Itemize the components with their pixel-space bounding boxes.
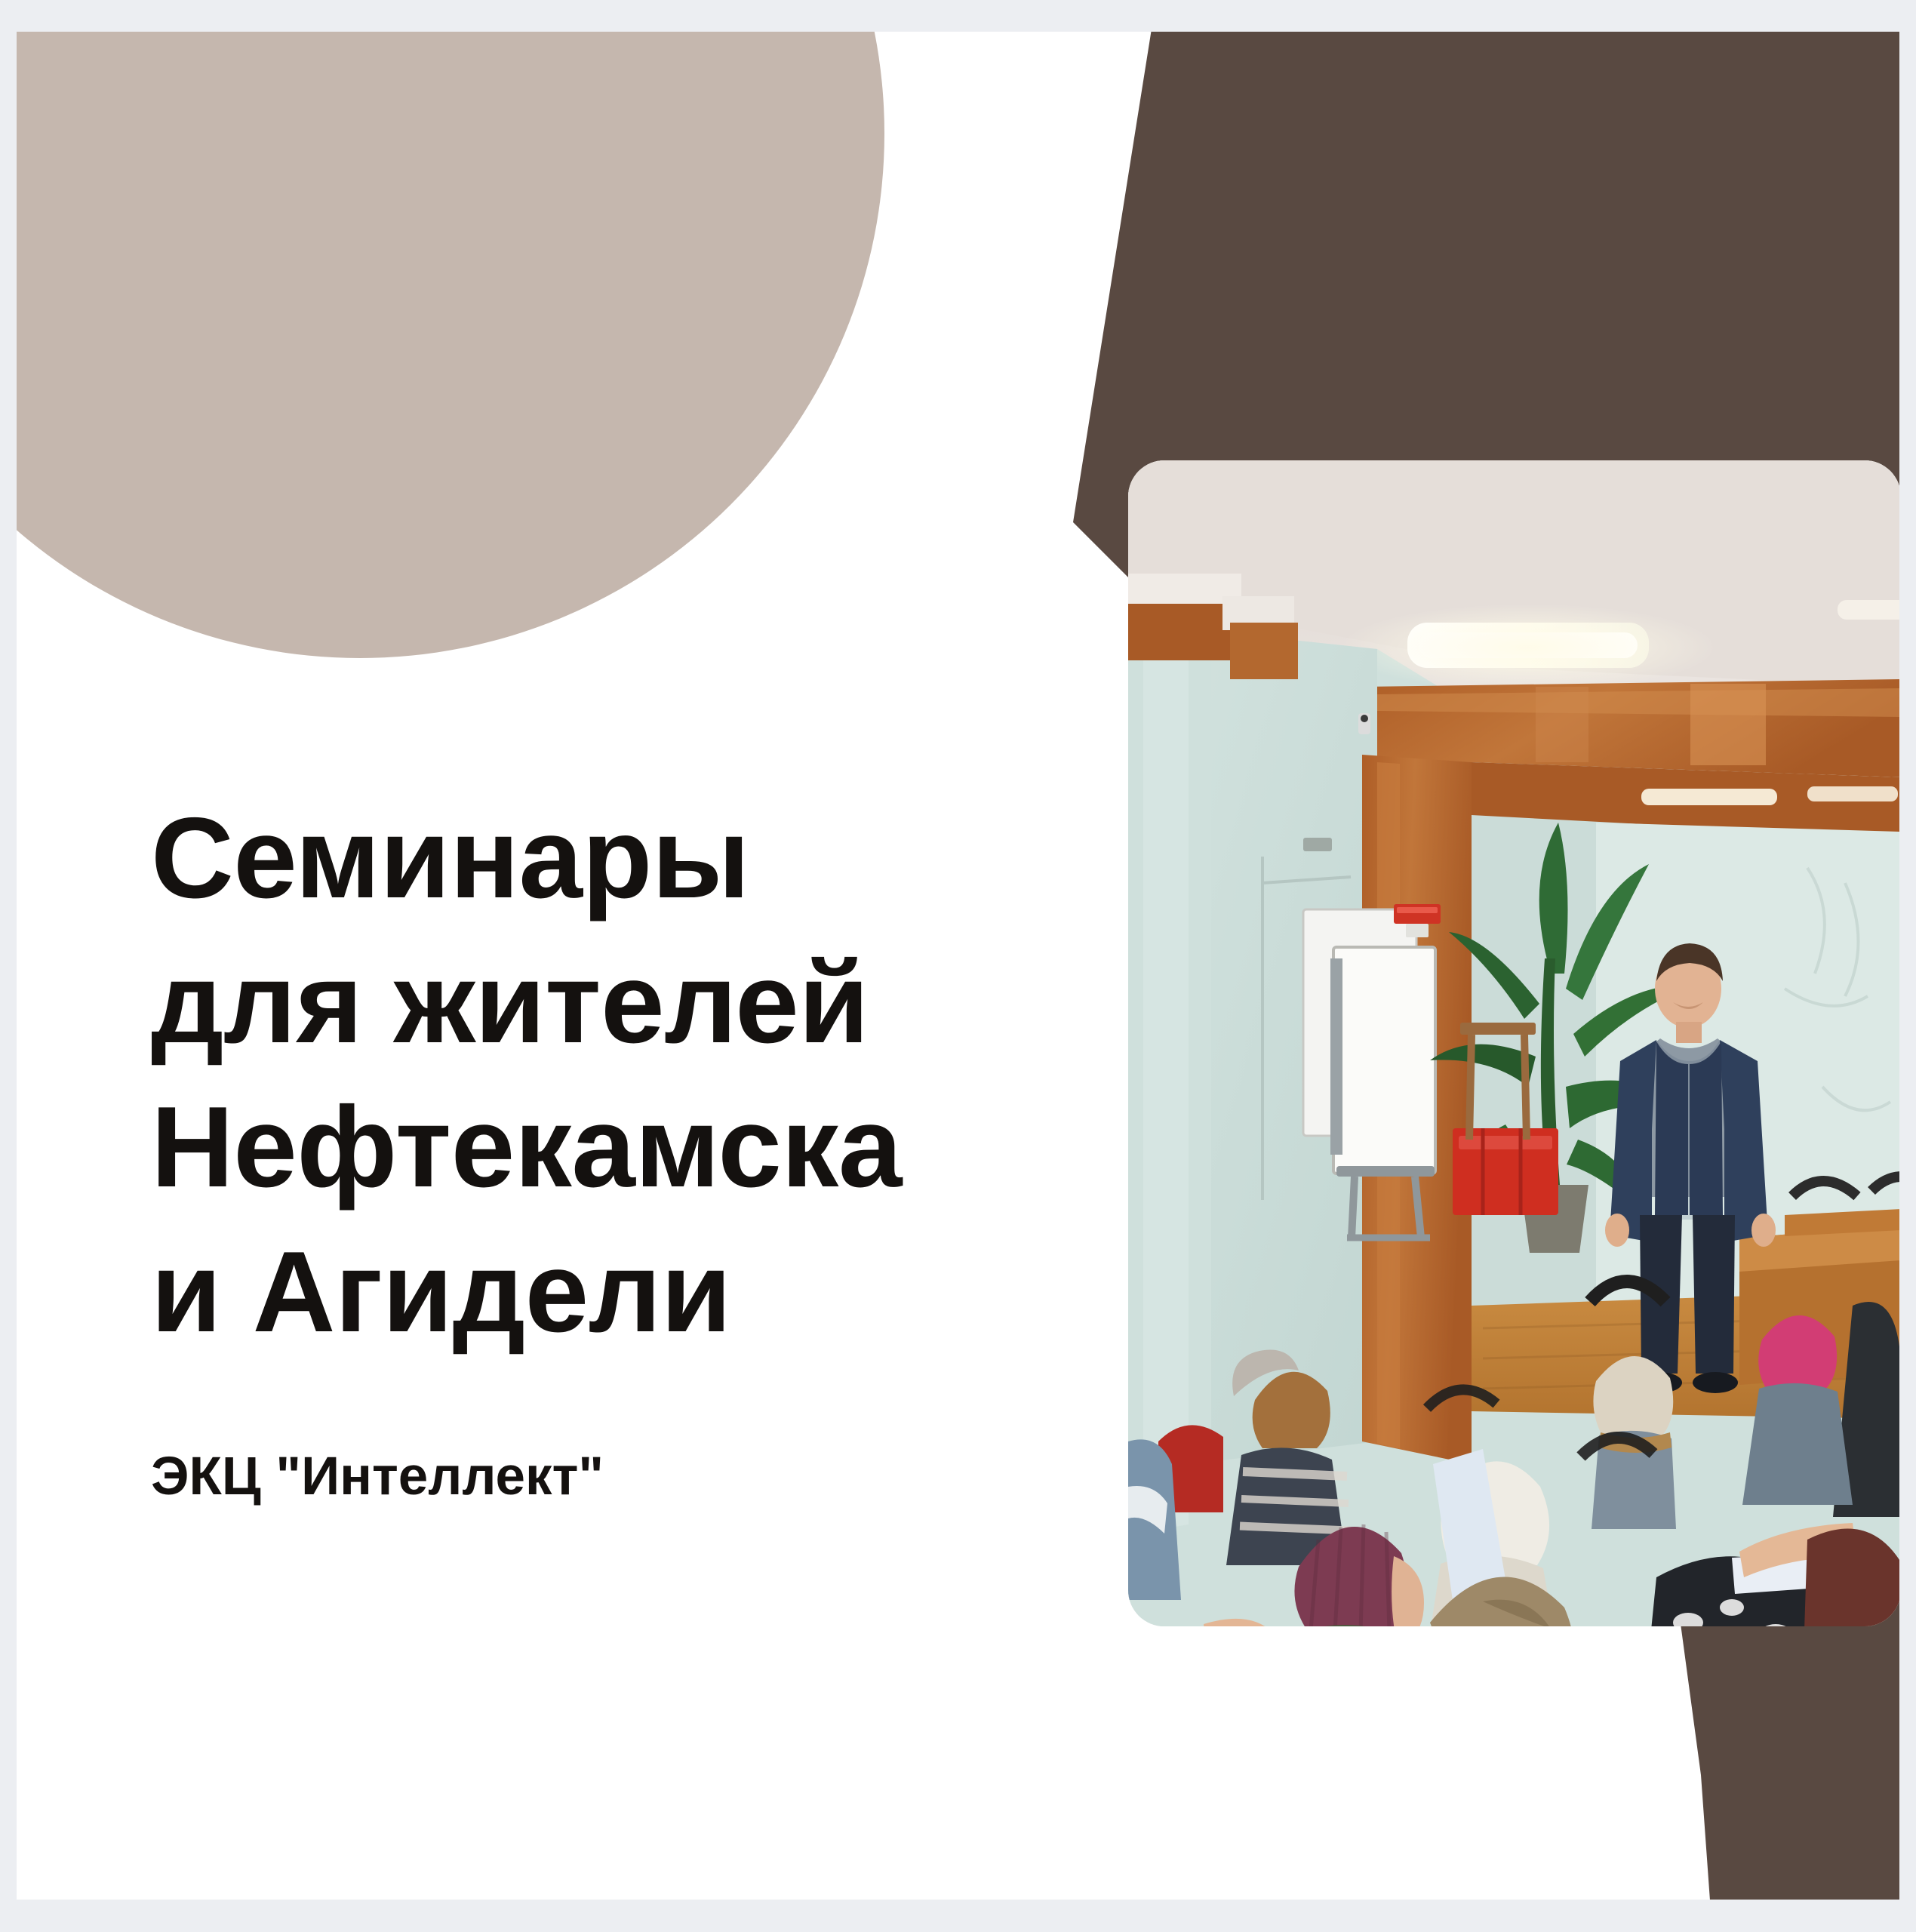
seminar-photo-illustration <box>1128 460 1899 1626</box>
organization-subtitle: ЭКЦ "Интеллект" <box>151 1446 1026 1507</box>
poster-canvas: Семинары для жителей Нефтекамска и Агиде… <box>0 0 1916 1932</box>
wall-camera <box>1358 713 1370 734</box>
beige-circle-decoration <box>17 32 884 658</box>
red-equipment <box>1453 1128 1558 1215</box>
seminar-photo-card <box>1128 460 1899 1626</box>
ceiling-lamp <box>1339 604 1717 691</box>
poster-inner-canvas: Семинары для жителей Нефтекамска и Агиде… <box>17 32 1899 1900</box>
page-title: Семинары для жителей Нефтекамска и Агиде… <box>151 786 1026 1364</box>
text-block: Семинары для жителей Нефтекамска и Агиде… <box>151 786 1026 1507</box>
ceiling-lamp-secondary <box>1838 600 1899 620</box>
